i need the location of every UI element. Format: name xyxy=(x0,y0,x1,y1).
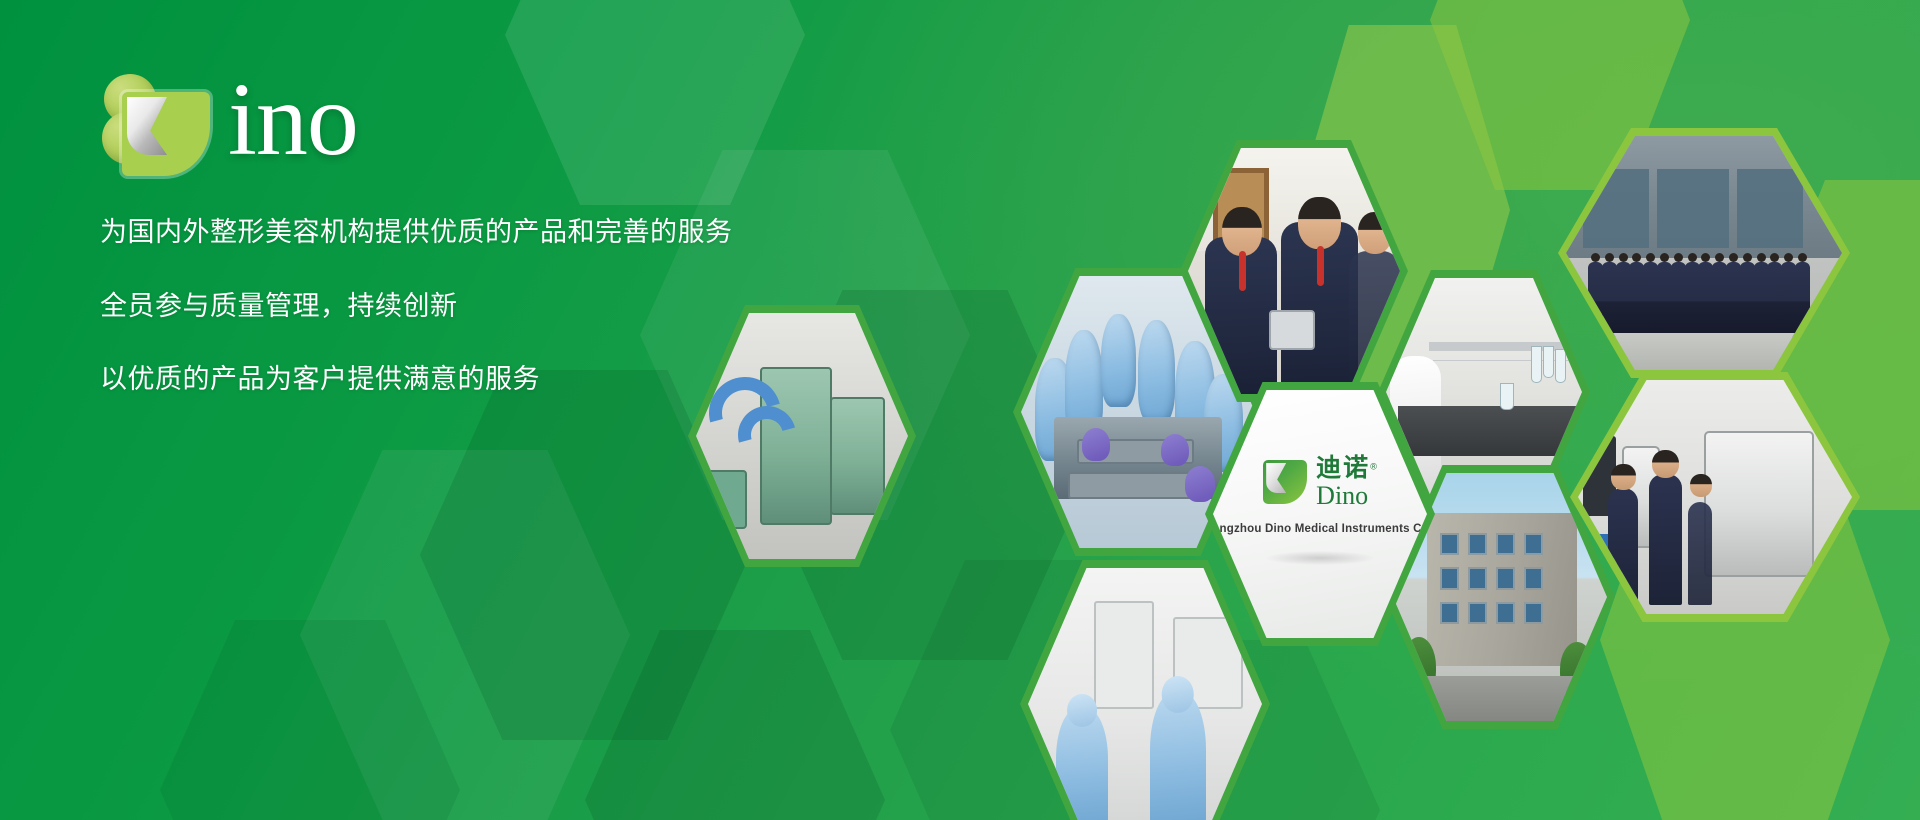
hex-photo-machine-shop-image xyxy=(1578,380,1852,614)
hex-photo-cleanroom-corridor-image xyxy=(1028,568,1262,820)
hexagon-photo-cluster: 迪诺® Dino Hangzhou Dino Medical Instrumen… xyxy=(0,0,1920,820)
hex-brand-badge-content: 迪诺® Dino Hangzhou Dino Medical Instrumen… xyxy=(1213,390,1427,638)
brand-company-line: Hangzhou Dino Medical Instruments Co.. xyxy=(1213,523,1427,535)
hex-photo-team[interactable] xyxy=(1558,128,1850,378)
hex-photo-machine-room[interactable] xyxy=(688,305,916,567)
brand-d-mark-icon xyxy=(1263,460,1307,504)
hex-photo-team-image xyxy=(1566,136,1842,370)
hex-photo-machine-shop[interactable] xyxy=(1570,372,1860,622)
brand-name-en: Dino xyxy=(1316,483,1377,509)
registered-trademark-icon: ® xyxy=(1370,462,1377,472)
brand-shadow xyxy=(1266,551,1374,565)
brand-name-cn: 迪诺 xyxy=(1316,453,1370,482)
hero-banner: ino 为国内外整形美容机构提供优质的产品和完善的服务 全员参与质量管理，持续创… xyxy=(0,0,1920,820)
brand-text-block: 迪诺® Dino xyxy=(1316,455,1377,509)
hex-photo-cleanroom-corridor[interactable] xyxy=(1020,560,1270,820)
brand-lockup: 迪诺® Dino xyxy=(1263,455,1377,509)
hex-photo-inspection-image xyxy=(1188,148,1400,394)
hex-photo-machine-room-image xyxy=(696,313,908,559)
